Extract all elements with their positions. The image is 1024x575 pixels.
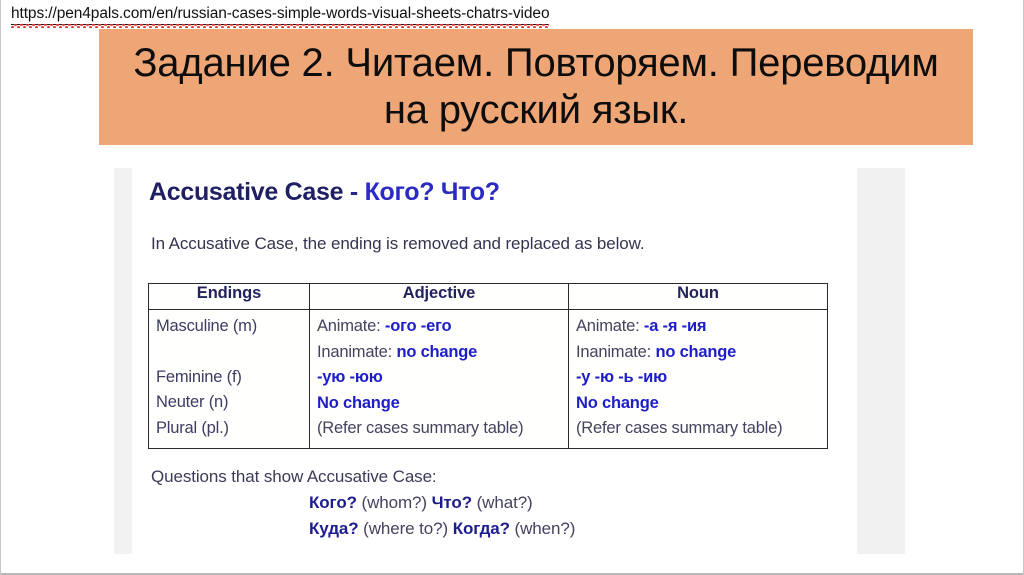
adjective-plural-note: (Refer cases summary table) bbox=[317, 416, 562, 442]
table-row: Masculine (m) Feminine (f) Neuter (n) Pl… bbox=[149, 310, 828, 449]
sheet-subtitle: In Accusative Case, the ending is remove… bbox=[151, 234, 645, 254]
row-label-feminine: Feminine (f) bbox=[156, 365, 303, 391]
row-label-plural: Plural (pl.) bbox=[156, 416, 303, 442]
slide-title: Задание 2. Читаем. Повторяем. Переводим … bbox=[99, 40, 973, 134]
noun-inanimate-line: Inanimate: no change bbox=[576, 340, 821, 366]
adjective-animate-endings: -ого -его bbox=[385, 317, 452, 335]
table-header-row: Endings Adjective Noun bbox=[149, 284, 828, 310]
sheet-heading-english: Accusative Case bbox=[149, 178, 343, 206]
column-header-noun: Noun bbox=[569, 284, 828, 310]
questions-line-1: Кого? (whom?) Что? (what?) bbox=[151, 493, 575, 513]
source-url-text[interactable]: https://pen4pals.com/en/russian-cases-si… bbox=[11, 5, 549, 25]
cell-noun-forms: Animate: -а -я -ия Inanimate: no change … bbox=[569, 310, 828, 449]
question-chto-en: (what?) bbox=[477, 493, 533, 512]
column-header-endings: Endings bbox=[149, 284, 310, 310]
question-kogo-en: (whom?) bbox=[362, 493, 427, 512]
adjective-animate-label: Animate: bbox=[317, 317, 381, 335]
endings-table: Endings Adjective Noun Masculine (m) Fem… bbox=[148, 283, 828, 449]
sheet-heading-russian: Кого? Что? bbox=[365, 178, 500, 206]
question-kuda-ru: Куда? bbox=[309, 519, 359, 538]
right-gutter-strip bbox=[857, 168, 905, 554]
noun-animate-line: Animate: -а -я -ия bbox=[576, 314, 821, 340]
questions-line-2: Куда? (where to?) Когда? (when?) bbox=[151, 519, 575, 539]
noun-animate-endings: -а -я -ия bbox=[644, 317, 706, 335]
adjective-feminine-endings: -ую -юю bbox=[317, 365, 562, 391]
column-header-adjective: Adjective bbox=[310, 284, 569, 310]
adjective-inanimate-line: Inanimate: no change bbox=[317, 340, 562, 366]
row-label-spacer bbox=[156, 340, 303, 365]
sheet-heading: Accusative Case - Кого? Что? bbox=[149, 178, 500, 207]
adjective-inanimate-label: Inanimate: bbox=[317, 343, 392, 361]
noun-inanimate-label: Inanimate: bbox=[576, 343, 651, 361]
cell-row-labels: Masculine (m) Feminine (f) Neuter (n) Pl… bbox=[149, 310, 310, 449]
adjective-inanimate-value: no change bbox=[396, 343, 477, 361]
question-kogo-ru: Кого? bbox=[309, 493, 357, 512]
question-kogda-en: (when?) bbox=[515, 519, 576, 538]
row-label-masculine: Masculine (m) bbox=[156, 314, 303, 340]
noun-plural-note: (Refer cases summary table) bbox=[576, 416, 821, 442]
row-label-neuter: Neuter (n) bbox=[156, 390, 303, 416]
noun-inanimate-value: no change bbox=[655, 343, 736, 361]
questions-title: Questions that show Accusative Case: bbox=[151, 467, 575, 487]
question-kogda-ru: Когда? bbox=[453, 519, 510, 538]
source-url: https://pen4pals.com/en/russian-cases-si… bbox=[11, 5, 549, 25]
sheet-heading-separator: - bbox=[343, 178, 364, 206]
left-gutter-strip bbox=[114, 168, 132, 554]
questions-block: Questions that show Accusative Case: Ког… bbox=[151, 467, 575, 539]
question-kuda-en: (where to?) bbox=[363, 519, 448, 538]
title-banner: Задание 2. Читаем. Повторяем. Переводим … bbox=[99, 29, 973, 145]
adjective-animate-line: Animate: -ого -его bbox=[317, 314, 562, 340]
noun-animate-label: Animate: bbox=[576, 317, 640, 335]
noun-feminine-endings: -у -ю -ь -ию bbox=[576, 365, 821, 391]
slide-canvas: https://pen4pals.com/en/russian-cases-si… bbox=[0, 0, 1024, 575]
question-chto-ru: Что? bbox=[432, 493, 472, 512]
cell-adjective-forms: Animate: -ого -его Inanimate: no change … bbox=[310, 310, 569, 449]
noun-neuter-value: No change bbox=[576, 391, 821, 417]
adjective-neuter-value: No change bbox=[317, 391, 562, 417]
